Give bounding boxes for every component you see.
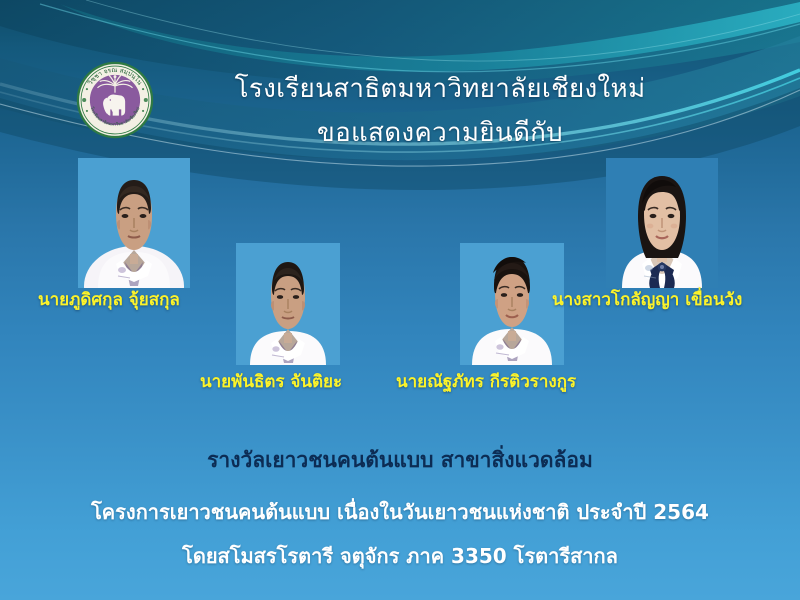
program-caption: โครงการเยาวชนคนต้นแบบ เนื่องในวันเยาวชนแ… — [0, 496, 800, 528]
student-photo-4 — [606, 158, 718, 288]
school-crest-logo: วิชฺชา จรณ สมฺปนฺโน โรงเรียนสาธิตมหาวิทย… — [76, 61, 154, 139]
wave-line-cyan-3 — [40, 4, 800, 72]
wave-shape-teal-upper — [60, 2, 800, 72]
student-name-3: นายณัฐภัทร กีรติวรางกูร — [396, 368, 576, 395]
student-name-2: นายพันธิตร จันติยะ — [200, 368, 342, 395]
award-title: รางวัลเยาวชนคนต้นแบบ สาขาสิ่งแวดล้อม — [0, 444, 800, 477]
student-photo-3 — [460, 243, 564, 365]
student-name-4: นางสาวโกลัญญา เขื่อนวัง — [552, 286, 742, 313]
student-photo-1 — [78, 158, 190, 288]
congratulation-poster: วิชฺชา จรณ สมฺปนฺโน โรงเรียนสาธิตมหาวิทย… — [0, 0, 800, 600]
wave-line-cyan-4 — [86, 0, 800, 61]
institution-name: โรงเรียนสาธิตมหาวิทยาลัยเชียงใหม่ — [160, 68, 720, 110]
student-name-1: นายภูดิศกุล จุ้ยสกุล — [38, 286, 180, 313]
header-text-block: โรงเรียนสาธิตมหาวิทยาลัยเชียงใหม่ ขอแสดง… — [160, 68, 720, 154]
student-photo-2 — [236, 243, 340, 365]
organizer-caption: โดยสโมสรโรตารี จตุจักร ภาค 3350 โรตารีสา… — [0, 540, 800, 572]
congratulation-text: ขอแสดงความยินดีกับ — [160, 112, 720, 154]
